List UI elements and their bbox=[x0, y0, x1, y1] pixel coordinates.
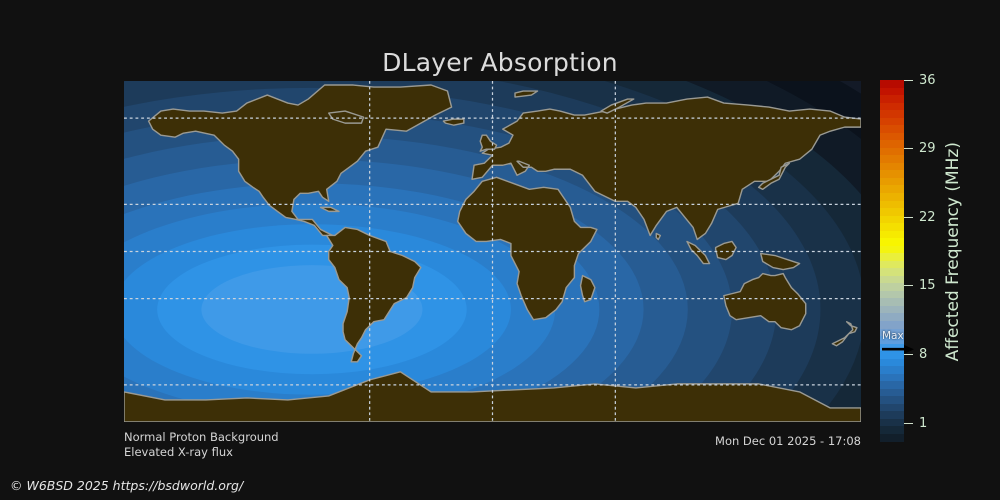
colorbar-band bbox=[880, 95, 904, 103]
colorbar-band bbox=[880, 268, 904, 276]
colorbar-band bbox=[880, 118, 904, 126]
colorbar-band bbox=[880, 140, 904, 148]
colorbar-band bbox=[880, 148, 904, 156]
colorbar-band bbox=[880, 306, 904, 314]
colorbar-tick: 29 bbox=[904, 143, 936, 155]
colorbar-band bbox=[880, 411, 904, 419]
colorbar-band bbox=[880, 208, 904, 216]
colorbar-band bbox=[880, 283, 904, 291]
colorbar-band bbox=[880, 193, 904, 201]
colorbar-band bbox=[880, 374, 904, 382]
colorbar-band bbox=[880, 426, 904, 434]
colorbar-band bbox=[880, 419, 904, 427]
max-marker: Max bbox=[880, 331, 926, 357]
colorbar-band bbox=[880, 178, 904, 186]
colorbar-band bbox=[880, 110, 904, 118]
colorbar-band bbox=[880, 359, 904, 367]
map-canvas bbox=[124, 81, 861, 422]
colorbar-tick-label: 29 bbox=[919, 142, 936, 155]
colorbar-tick-label: 15 bbox=[919, 279, 936, 292]
colorbar-axis-title: Affected Frequency (MHz) bbox=[941, 80, 965, 423]
colorbar-band bbox=[880, 276, 904, 284]
colorbar-band bbox=[880, 389, 904, 397]
colorbar-band bbox=[880, 321, 904, 329]
colorbar-band bbox=[880, 103, 904, 111]
colorbar-band bbox=[880, 216, 904, 224]
colorbar-tick: 15 bbox=[904, 280, 936, 292]
colorbar-band bbox=[880, 434, 904, 442]
colorbar-ticks: 3629221581 bbox=[904, 80, 944, 423]
colorbar-band bbox=[880, 125, 904, 133]
colorbar-band bbox=[880, 155, 904, 163]
page-title: DLayer Absorption bbox=[0, 48, 1000, 77]
footer-credit: © W6BSD 2025 https://bsdworld.org/ bbox=[10, 478, 243, 493]
colorbar-band bbox=[880, 133, 904, 141]
colorbar[interactable]: 3629221581 Max bbox=[880, 80, 904, 423]
colorbar-band bbox=[880, 381, 904, 389]
colorbar-gradient bbox=[880, 80, 904, 423]
colorbar-tick: 1 bbox=[904, 417, 927, 429]
colorbar-tick-label: 22 bbox=[919, 211, 936, 224]
colorbar-band bbox=[880, 246, 904, 254]
colorbar-tick-label: 1 bbox=[919, 417, 927, 430]
colorbar-tick: 36 bbox=[904, 74, 936, 86]
colorbar-band bbox=[880, 298, 904, 306]
colorbar-band bbox=[880, 396, 904, 404]
timestamp: Mon Dec 01 2025 - 17:08 bbox=[0, 434, 861, 448]
colorbar-tick-label: 36 bbox=[919, 74, 936, 87]
colorbar-band bbox=[880, 201, 904, 209]
colorbar-band bbox=[880, 404, 904, 412]
plot-root: DLayer Absorption 3629221581 Max bbox=[0, 0, 1000, 500]
world-map[interactable] bbox=[124, 81, 861, 422]
colorbar-band bbox=[880, 185, 904, 193]
colorbar-band bbox=[880, 253, 904, 261]
colorbar-band bbox=[880, 170, 904, 178]
colorbar-band bbox=[880, 163, 904, 171]
colorbar-band bbox=[880, 88, 904, 96]
colorbar-band bbox=[880, 366, 904, 374]
colorbar-band bbox=[880, 80, 904, 88]
colorbar-tick: 22 bbox=[904, 211, 936, 223]
max-arrow-icon bbox=[882, 345, 914, 354]
colorbar-band bbox=[880, 238, 904, 246]
colorbar-band bbox=[880, 231, 904, 239]
max-marker-label: Max bbox=[882, 331, 904, 342]
colorbar-band bbox=[880, 261, 904, 269]
colorbar-band bbox=[880, 291, 904, 299]
colorbar-band bbox=[880, 223, 904, 231]
colorbar-axis-title-text: Affected Frequency (MHz) bbox=[943, 142, 963, 361]
colorbar-band bbox=[880, 313, 904, 321]
